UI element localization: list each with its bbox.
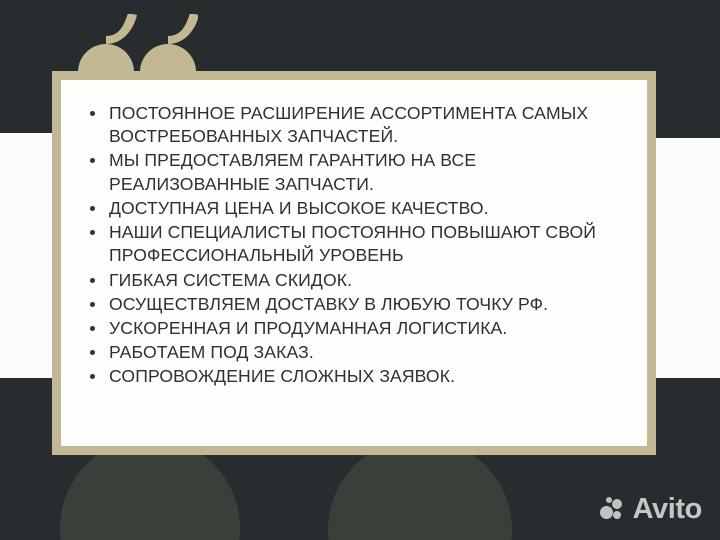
- avito-watermark-logo: Avito: [600, 495, 702, 524]
- list-item: Работаем под заказ.: [81, 341, 627, 364]
- avito-wordmark: Avito: [633, 495, 702, 524]
- list-item: Осуществляем доставку в любую точку РФ.: [81, 293, 627, 316]
- quote-card-frame: Постоянное расширение ассортимента самых…: [52, 71, 656, 455]
- list-item: Ускоренная и продуманная логистика.: [81, 317, 627, 340]
- benefits-list: Постоянное расширение ассортимента самых…: [81, 102, 627, 389]
- list-item: Доступная цена и высокое качество.: [81, 197, 627, 220]
- list-item: Наши специалисты постоянно повышают свой…: [81, 221, 627, 267]
- list-item: Постоянное расширение ассортимента самых…: [81, 102, 627, 148]
- slide-canvas: Постоянное расширение ассортимента самых…: [0, 0, 720, 540]
- avito-dots-icon: [600, 497, 626, 523]
- list-item: Сопровождение сложных заявок.: [81, 365, 627, 388]
- list-item: Гибкая система скидок.: [81, 269, 627, 292]
- list-item: Мы предоставляем гарантию на все реализо…: [81, 149, 627, 195]
- quote-card-body: Постоянное расширение ассортимента самых…: [61, 80, 647, 446]
